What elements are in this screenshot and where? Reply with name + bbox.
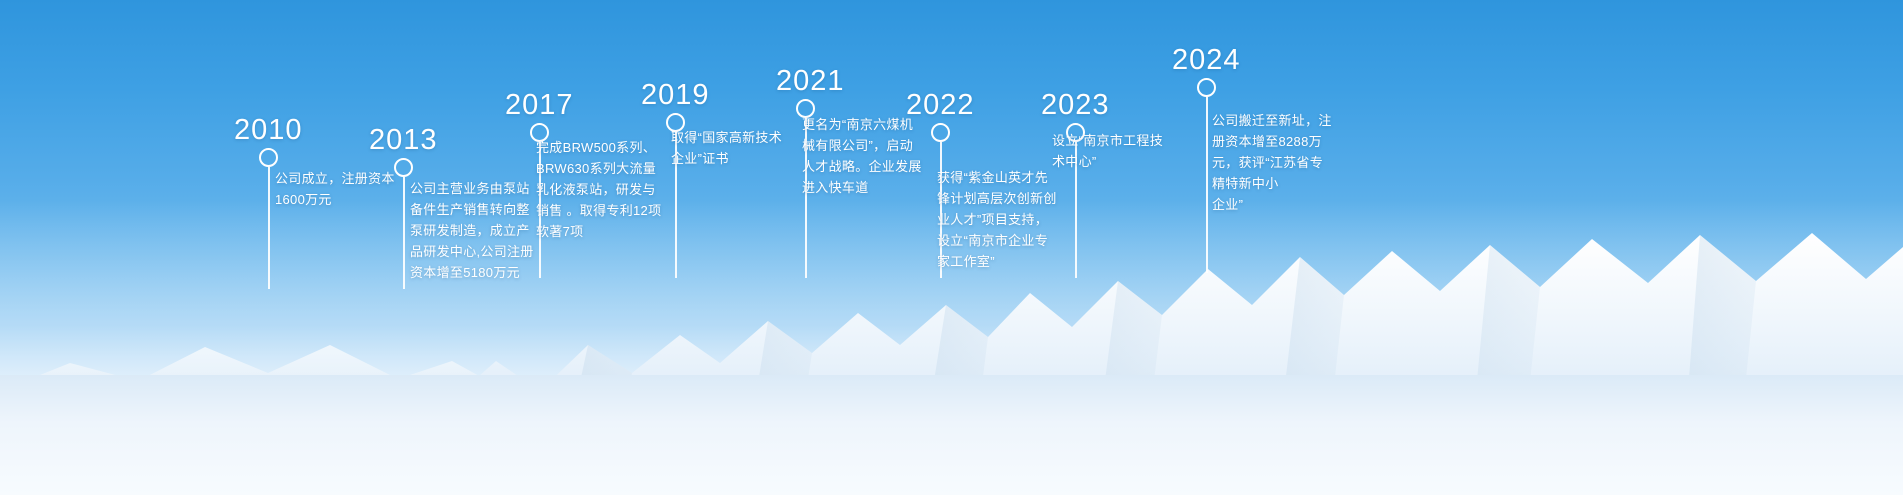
timeline-infographic: 2010公司成立，注册资本 1600万元2013公司主营业务由泵站 备件生产销售… [0, 0, 1903, 495]
milestone-year-label: 2019 [641, 79, 710, 112]
milestone-description: 完成BRW500系列、 BRW630系列大流量 乳化液泵站，研发与 销售 。取得… [536, 137, 686, 242]
milestone-stem-line [268, 167, 270, 289]
milestone-year-label: 2021 [776, 65, 845, 98]
milestone-description: 更名为“南京六煤机 械有限公司”，启动 人才战略。企业发展 进入快车道 [802, 114, 944, 198]
milestone-description: 获得“紫金山英才先 锋计划高层次创新创 业人才”项目支持， 设立“南京市企业专 … [937, 167, 1077, 272]
milestone-year-label: 2024 [1172, 44, 1241, 77]
milestone-year-label: 2013 [369, 124, 438, 157]
milestone-stem-line [403, 177, 405, 289]
milestone-description: 设立“南京市工程技 术中心” [1052, 130, 1202, 172]
milestone-year-label: 2023 [1041, 89, 1110, 122]
milestone-description: 公司主营业务由泵站 备件生产销售转向整 泵研发制造，成立产 品研发中心,公司注册… [410, 178, 542, 283]
milestone-circle-marker-icon [1197, 78, 1216, 97]
foreground-snowfield [0, 375, 1903, 495]
milestone-year-label: 2010 [234, 114, 303, 147]
milestone-stem-line [1206, 97, 1208, 273]
milestone-year-label: 2022 [906, 89, 975, 122]
milestone-year-label: 2017 [505, 89, 574, 122]
milestone-circle-marker-icon [259, 148, 278, 167]
milestone-circle-marker-icon [394, 158, 413, 177]
milestone-description: 公司搬迁至新址，注 册资本增至8288万 元，获评“江苏省专 精特新中小 企业” [1212, 110, 1362, 215]
milestone-circle-marker-icon [931, 123, 950, 142]
